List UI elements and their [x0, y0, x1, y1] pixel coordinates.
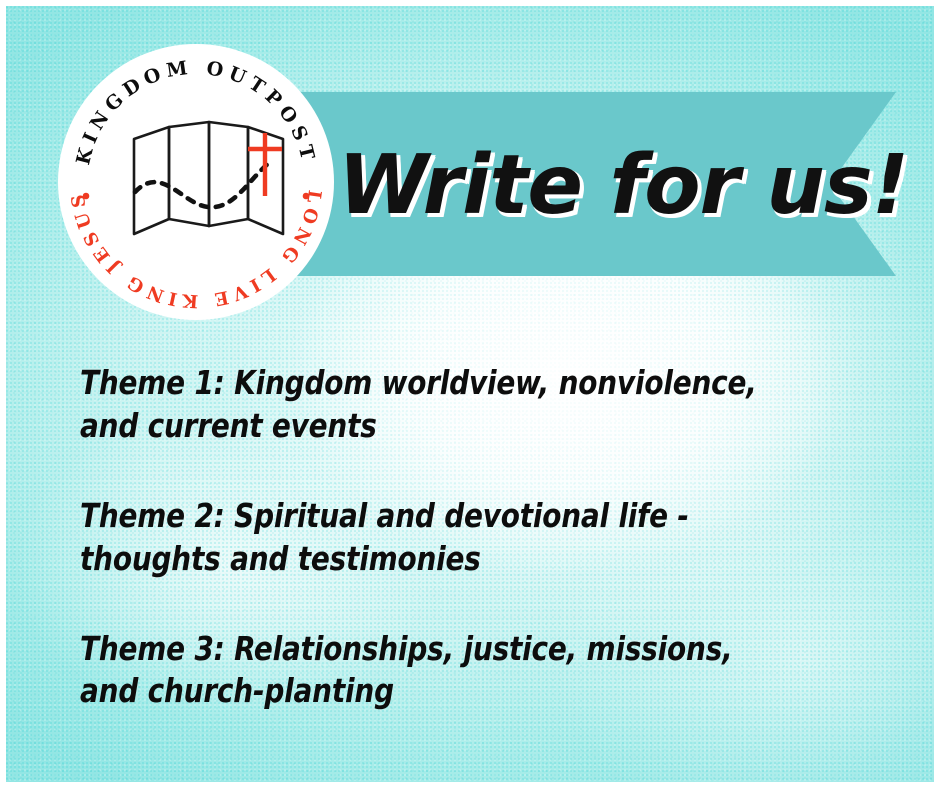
logo-circle-background	[58, 44, 334, 320]
logo-badge: KINGDOM OUTPOST LONG LIVE KING JESUS	[58, 44, 334, 320]
write-for-us-poster: Write for us!	[0, 0, 940, 788]
theme-item-2: Theme 2: Spiritual and devotional life -…	[80, 495, 794, 581]
theme-item-1: Theme 1: Kingdom worldview, nonviolence,…	[80, 362, 794, 448]
logo-separator-dot-left	[83, 193, 90, 200]
theme-item-3: Theme 3: Relationships, justice, mission…	[80, 628, 794, 714]
logo-separator-dot-right	[303, 193, 310, 200]
theme-list: Theme 1: Kingdom worldview, nonviolence,…	[80, 362, 880, 713]
banner-headline: Write for us!	[338, 118, 838, 252]
